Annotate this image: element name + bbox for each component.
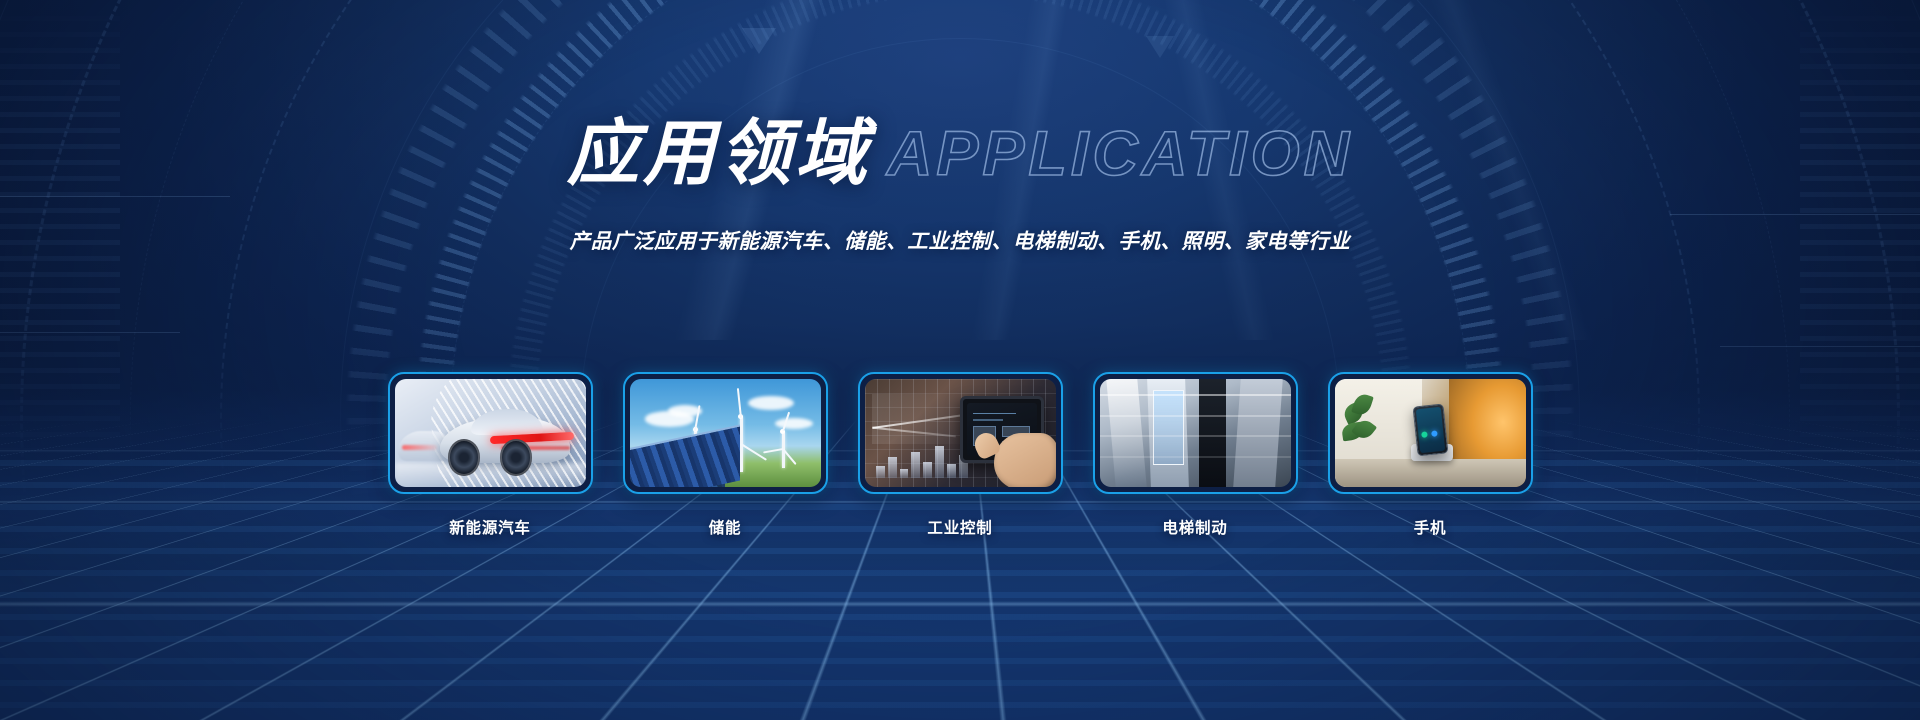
card-label: 手机 bbox=[1414, 516, 1447, 538]
application-card[interactable]: 新能源汽车 bbox=[388, 372, 593, 538]
card-frame[interactable] bbox=[1093, 372, 1298, 494]
application-banner: 应用领域 APPLICATION 产品广泛应用于新能源汽车、储能、工业控制、电梯… bbox=[0, 0, 1920, 720]
application-card[interactable]: 储能 bbox=[623, 372, 828, 538]
card-frame[interactable] bbox=[388, 372, 593, 494]
page-title-en: APPLICATION bbox=[887, 123, 1353, 186]
energy-storage-image bbox=[630, 379, 821, 487]
application-card[interactable]: 电梯制动 bbox=[1093, 372, 1298, 538]
application-card-list: 新能源汽车 bbox=[0, 372, 1920, 538]
card-frame[interactable] bbox=[858, 372, 1063, 494]
page-title-cn: 应用领域 bbox=[567, 118, 871, 190]
application-card[interactable]: 手机 bbox=[1328, 372, 1533, 538]
card-frame[interactable] bbox=[623, 372, 828, 494]
card-label: 储能 bbox=[709, 516, 742, 538]
banner-subtitle: 产品广泛应用于新能源汽车、储能、工业控制、电梯制动、手机、照明、家电等行业 bbox=[0, 224, 1920, 254]
banner-heading: 应用领域 APPLICATION bbox=[0, 118, 1920, 190]
mobile-phone-image bbox=[1335, 379, 1526, 487]
elevator-braking-image bbox=[1100, 379, 1291, 487]
industrial-control-image bbox=[865, 379, 1056, 487]
card-frame[interactable] bbox=[1328, 372, 1533, 494]
card-label: 工业控制 bbox=[927, 516, 992, 538]
application-card[interactable]: 工业控制 bbox=[858, 372, 1063, 538]
ev-car-image bbox=[395, 379, 586, 487]
card-label: 电梯制动 bbox=[1162, 516, 1227, 538]
card-label: 新能源汽车 bbox=[449, 516, 531, 538]
